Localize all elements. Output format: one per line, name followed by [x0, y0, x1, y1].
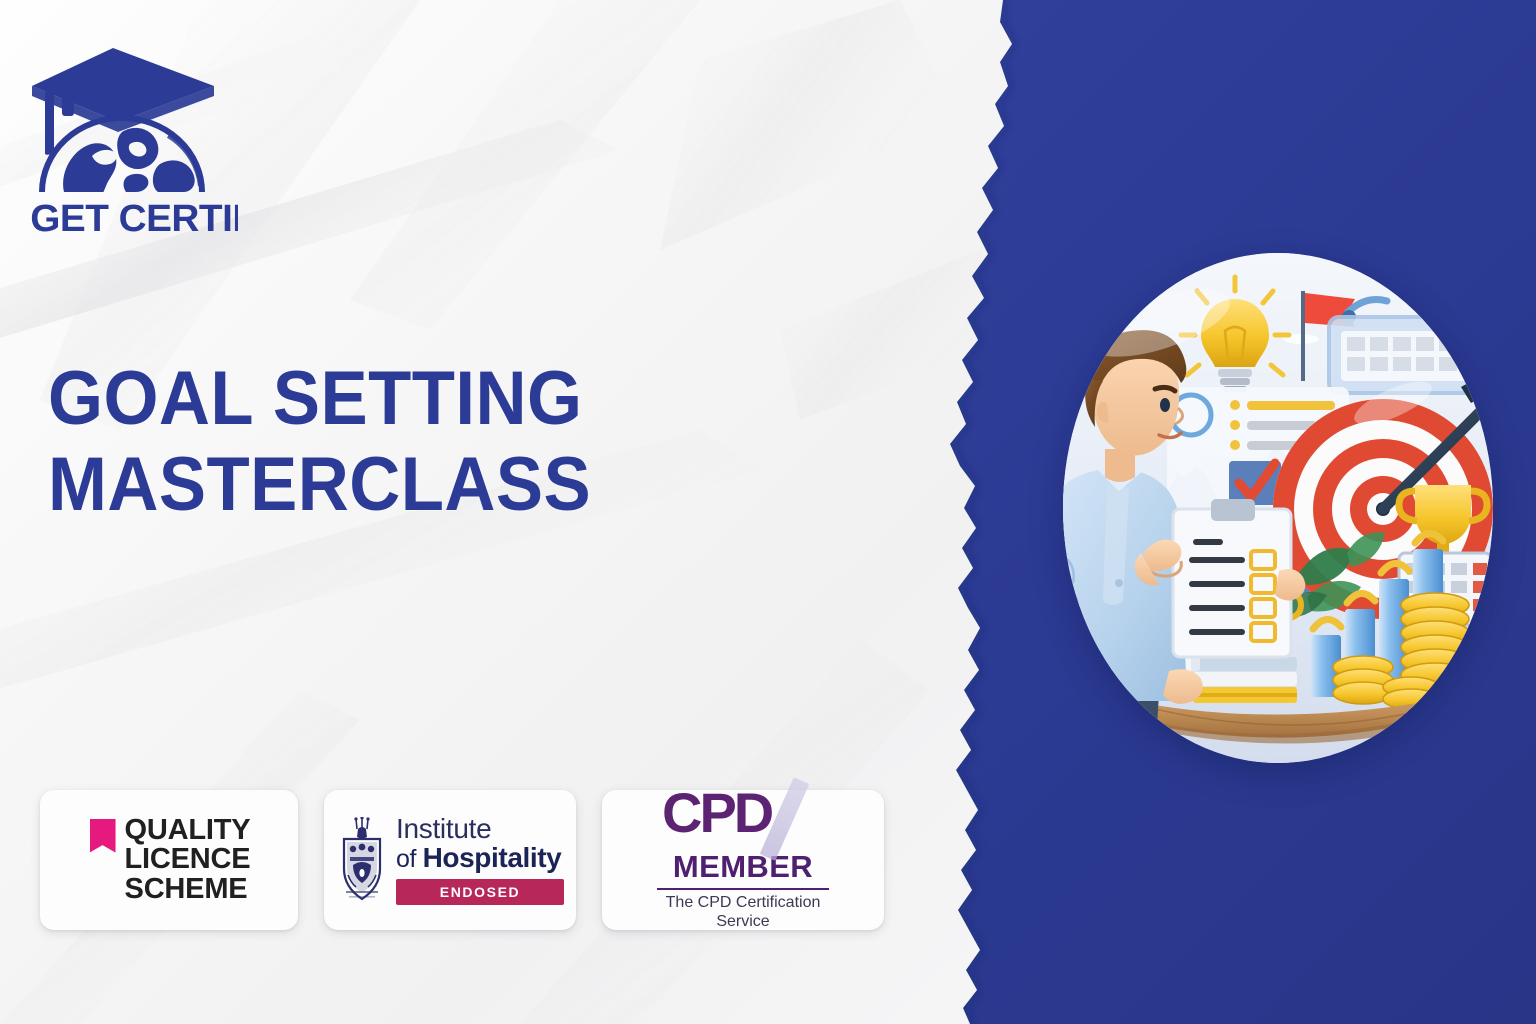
- title-line-2: MASTERCLASS: [48, 442, 643, 528]
- heraldic-crest-icon: [336, 817, 388, 903]
- accreditation-badges: QUALITY LICENCE SCHEME: [40, 790, 884, 930]
- badge-cpd-member[interactable]: CPD MEMBER The CPD Certification Service: [602, 790, 884, 930]
- cpd-sub-line-2: Service: [666, 913, 821, 932]
- qls-line-3: SCHEME: [125, 875, 251, 905]
- page-title: GOAL SETTING MASTERCLASS: [48, 356, 643, 528]
- ioh-line-1: Institute: [396, 815, 491, 843]
- logo-wordmark: GET CERTIFY: [30, 197, 238, 236]
- cpd-wordmark: CPD: [662, 785, 771, 841]
- cpd-subtitle: The CPD Certification Service: [666, 894, 821, 932]
- brand-logo[interactable]: GET CERTIFY: [18, 36, 238, 226]
- goal-setting-illustration: [1063, 253, 1493, 763]
- cpd-sub-line-1: The CPD Certification: [666, 894, 821, 913]
- ioh-of: of: [396, 845, 423, 873]
- qls-line-1: QUALITY: [125, 816, 251, 846]
- stacked-books: [1193, 657, 1297, 703]
- title-line-1: GOAL SETTING: [48, 356, 582, 441]
- poster-canvas: GET CERTIFY GOAL SETTING MASTERCLASS QUA…: [0, 0, 1536, 1024]
- clipboard: [1173, 499, 1291, 657]
- qls-line-2: LICENCE: [125, 845, 251, 875]
- badge-institute-of-hospitality[interactable]: Institute of Hospitality ENDOSED: [324, 790, 576, 930]
- qls-text: QUALITY LICENCE SCHEME: [125, 816, 251, 905]
- graduation-cap-globe-icon: [32, 48, 214, 194]
- bookmark-icon: [90, 819, 116, 853]
- ioh-line-2: of Hospitality: [396, 843, 561, 872]
- cpd-member-label: MEMBER: [673, 851, 813, 882]
- ioh-endorsed-band: ENDOSED: [396, 879, 564, 905]
- ioh-hospitality: Hospitality: [423, 842, 562, 873]
- badge-quality-licence-scheme[interactable]: QUALITY LICENCE SCHEME: [40, 790, 298, 930]
- cpd-divider: [657, 888, 829, 890]
